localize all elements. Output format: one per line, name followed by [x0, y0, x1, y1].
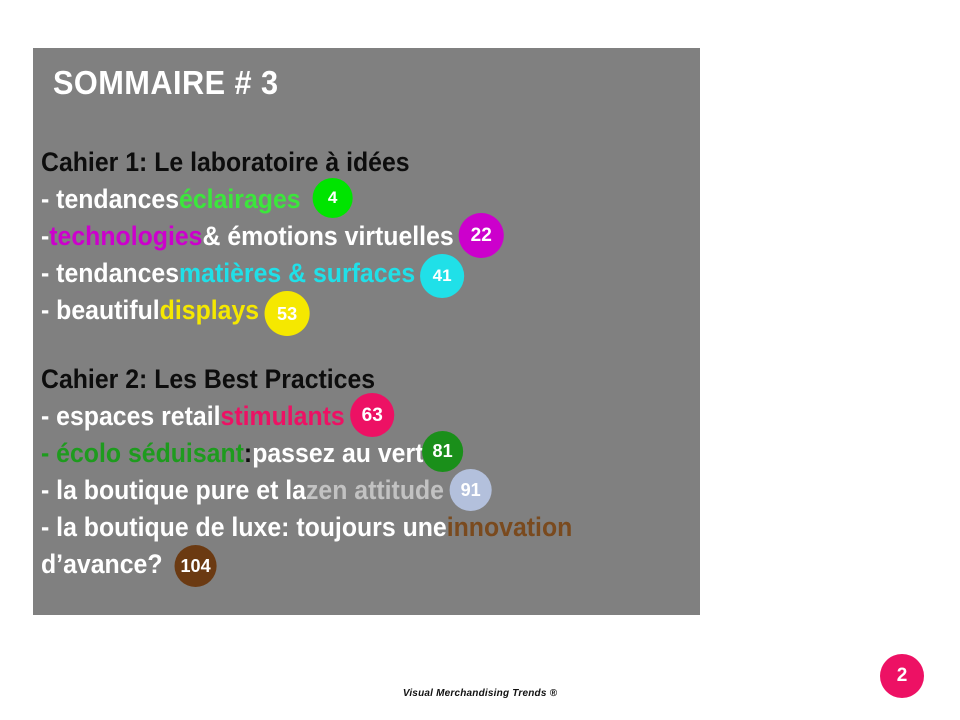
- item-technologies-emotions-text-2: & émotions virtuelles: [202, 221, 460, 252]
- heading-cahier-1-text-0: Cahier 1: Le laboratoire à idées: [41, 147, 410, 178]
- item-tendances-eclairages: - tendances éclairages 4: [41, 181, 644, 218]
- item-boutique-pure-zen: - la boutique pure et la zen attitude 91: [41, 472, 644, 509]
- item-technologies-emotions-text-1: technologies: [49, 221, 202, 252]
- page-number-badge: 2: [880, 654, 924, 698]
- item-boutique-luxe-innovation: - la boutique de luxe: toujours une inno…: [41, 509, 644, 546]
- item-ecolo-seduisant: - écolo séduisant: passez au vert81: [41, 435, 644, 472]
- heading-cahier-2-text-0: Cahier 2: Les Best Practices: [41, 364, 375, 395]
- item-tendances-matieres-surfaces-text-0: - tendances: [41, 258, 179, 289]
- item-boutique-luxe-innovation-text-0: - la boutique de luxe: toujours une: [41, 512, 447, 543]
- item-ecolo-seduisant-text-0: - écolo séduisant: [41, 438, 244, 469]
- item-boutique-pure-zen-page-badge[interactable]: 91: [449, 469, 491, 511]
- item-beautiful-displays: - beautiful displays 53: [41, 292, 644, 329]
- item-beautiful-displays-text-1: displays: [160, 295, 259, 326]
- item-ecolo-seduisant-text-1: :: [244, 438, 252, 469]
- item-technologies-emotions: - technologies & émotions virtuelles 22: [41, 218, 644, 255]
- group-spacer: [41, 329, 696, 361]
- item-tendances-eclairages-page-badge[interactable]: 4: [313, 178, 353, 218]
- item-espaces-retail-stimulants-text-0: - espaces retail: [41, 401, 221, 432]
- item-beautiful-displays-text-0: - beautiful: [41, 295, 160, 326]
- page-title: SOMMAIRE # 3: [53, 64, 279, 102]
- item-boutique-pure-zen-text-1: zen attitude: [306, 475, 444, 506]
- item-espaces-retail-stimulants-page-badge[interactable]: 63: [350, 393, 394, 437]
- item-tendances-matieres-surfaces-page-badge[interactable]: 41: [420, 254, 464, 298]
- item-ecolo-seduisant-text-2: passez au vert: [252, 438, 423, 469]
- summary-list: Cahier 1: Le laboratoire à idées- tendan…: [41, 144, 696, 583]
- item-tendances-matieres-surfaces-text-1: matières & surfaces: [179, 258, 415, 289]
- item-technologies-emotions-page-badge[interactable]: 22: [459, 213, 504, 258]
- item-davance: d’avance? 104: [41, 546, 644, 583]
- heading-cahier-1: Cahier 1: Le laboratoire à idées: [41, 144, 644, 181]
- item-tendances-eclairages-text-1: éclairages: [179, 184, 301, 215]
- heading-cahier-2: Cahier 2: Les Best Practices: [41, 361, 644, 398]
- item-espaces-retail-stimulants: - espaces retail stimulants 63: [41, 398, 644, 435]
- item-davance-text-0: d’avance?: [41, 549, 176, 580]
- item-boutique-luxe-innovation-text-1: innovation: [447, 512, 573, 543]
- item-technologies-emotions-text-0: -: [41, 221, 49, 252]
- footer-credit: Visual Merchandising Trends ®: [0, 688, 960, 699]
- item-beautiful-displays-page-badge[interactable]: 53: [264, 291, 309, 336]
- item-espaces-retail-stimulants-text-1: stimulants: [221, 401, 345, 432]
- item-davance-page-badge[interactable]: 104: [175, 545, 217, 587]
- item-ecolo-seduisant-page-badge[interactable]: 81: [422, 431, 463, 472]
- item-tendances-matieres-surfaces: - tendances matières & surfaces 41: [41, 255, 644, 292]
- item-boutique-pure-zen-text-0: - la boutique pure et la: [41, 475, 306, 506]
- item-tendances-eclairages-text-0: - tendances: [41, 184, 179, 215]
- slide-panel: SOMMAIRE # 3 Cahier 1: Le laboratoire à …: [33, 48, 700, 615]
